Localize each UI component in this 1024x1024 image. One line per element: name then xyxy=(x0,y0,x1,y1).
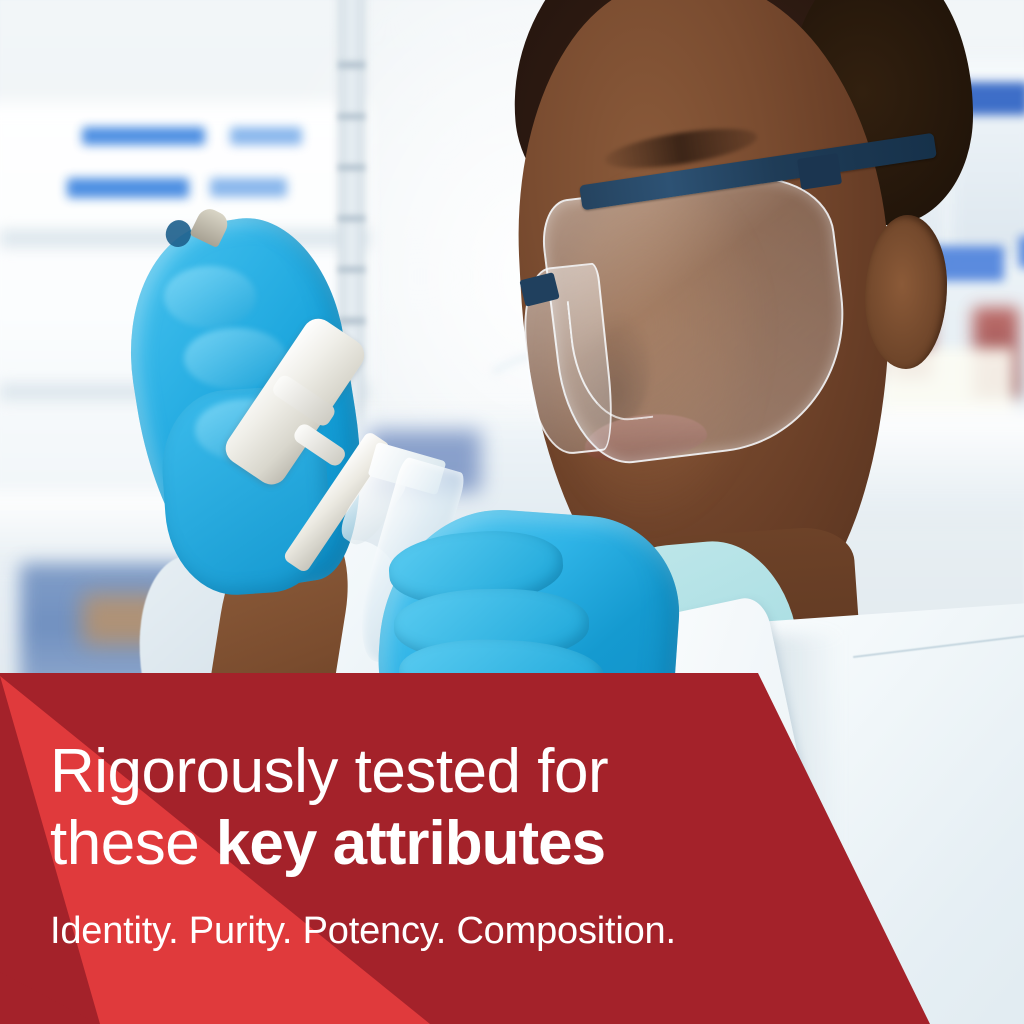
safety-glasses-hinge xyxy=(797,153,842,189)
glove-knuckle xyxy=(164,266,256,327)
ear xyxy=(865,215,947,369)
laboratory-photo xyxy=(0,0,1024,1024)
lab-coat-pocket xyxy=(853,635,1024,780)
promo-graphic: Rigorously tested for these key attribut… xyxy=(0,0,1024,1024)
